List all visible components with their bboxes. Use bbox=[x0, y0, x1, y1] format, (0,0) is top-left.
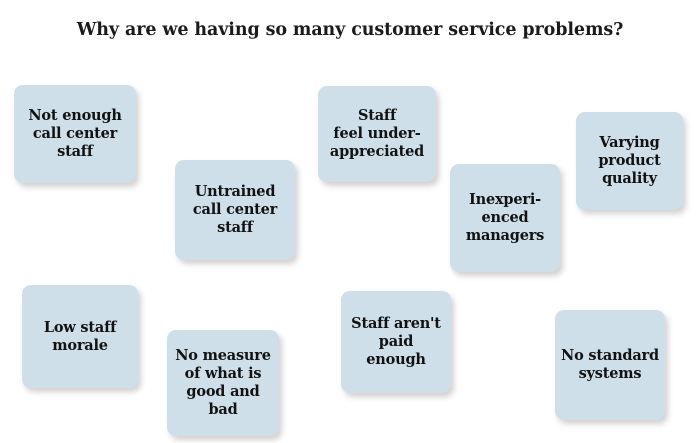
sticky-note-text: Inexperi- enced managers bbox=[466, 191, 544, 245]
sticky-note-text: Not enough call center staff bbox=[28, 107, 121, 161]
sticky-note-board: Why are we having so many customer servi… bbox=[0, 0, 700, 443]
sticky-note-staff-arent-paid-enough[interactable]: Staff aren't paid enough bbox=[341, 291, 451, 393]
sticky-note-varying-product-quality[interactable]: Varying product quality bbox=[576, 112, 683, 210]
sticky-note-inexperienced-managers[interactable]: Inexperi- enced managers bbox=[450, 164, 560, 272]
sticky-note-text: Untrained call center staff bbox=[193, 183, 277, 237]
sticky-note-text: No measure of what is good and bad bbox=[175, 347, 271, 419]
sticky-note-low-staff-morale[interactable]: Low staff morale bbox=[22, 285, 138, 388]
sticky-note-text: Staff feel under- appreciated bbox=[330, 107, 424, 161]
sticky-note-text: No standard systems bbox=[561, 347, 659, 383]
sticky-note-text: Staff aren't paid enough bbox=[347, 315, 445, 369]
board-title: Why are we having so many customer servi… bbox=[0, 20, 700, 40]
sticky-note-staff-feel-under-appreciated[interactable]: Staff feel under- appreciated bbox=[318, 86, 436, 182]
sticky-note-no-standard-systems[interactable]: No standard systems bbox=[555, 310, 665, 420]
sticky-note-no-measure-of-what-is-good-and-bad[interactable]: No measure of what is good and bad bbox=[167, 330, 279, 436]
sticky-note-text: Low staff morale bbox=[44, 319, 116, 355]
sticky-note-untrained-call-center-staff[interactable]: Untrained call center staff bbox=[175, 160, 295, 260]
sticky-note-text: Varying product quality bbox=[598, 134, 660, 188]
sticky-note-not-enough-call-center-staff[interactable]: Not enough call center staff bbox=[14, 85, 136, 183]
